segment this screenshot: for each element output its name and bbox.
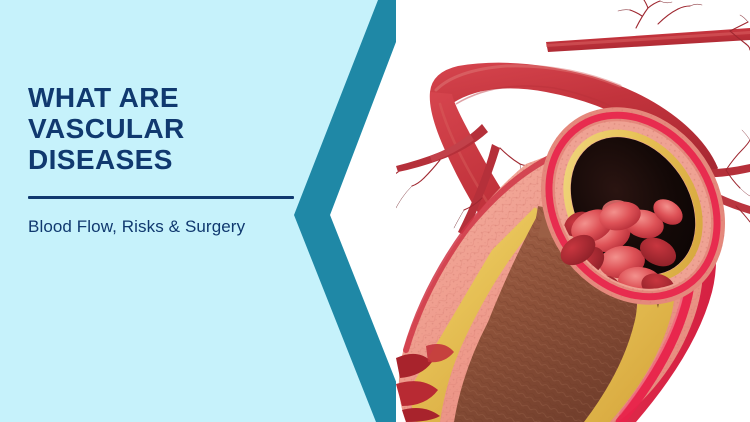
page-title-line-1: WHAT ARE (28, 82, 318, 113)
page-title: WHAT ARE VASCULAR DISEASES (28, 82, 318, 175)
artery-illustration (396, 0, 750, 422)
page-title-line-3: DISEASES (28, 144, 318, 175)
text-block: WHAT ARE VASCULAR DISEASES Blood Flow, R… (28, 82, 318, 237)
page-title-line-2: VASCULAR (28, 113, 318, 144)
vascular-diseases-banner: WHAT ARE VASCULAR DISEASES Blood Flow, R… (0, 0, 750, 422)
subtitle: Blood Flow, Risks & Surgery (28, 199, 318, 237)
